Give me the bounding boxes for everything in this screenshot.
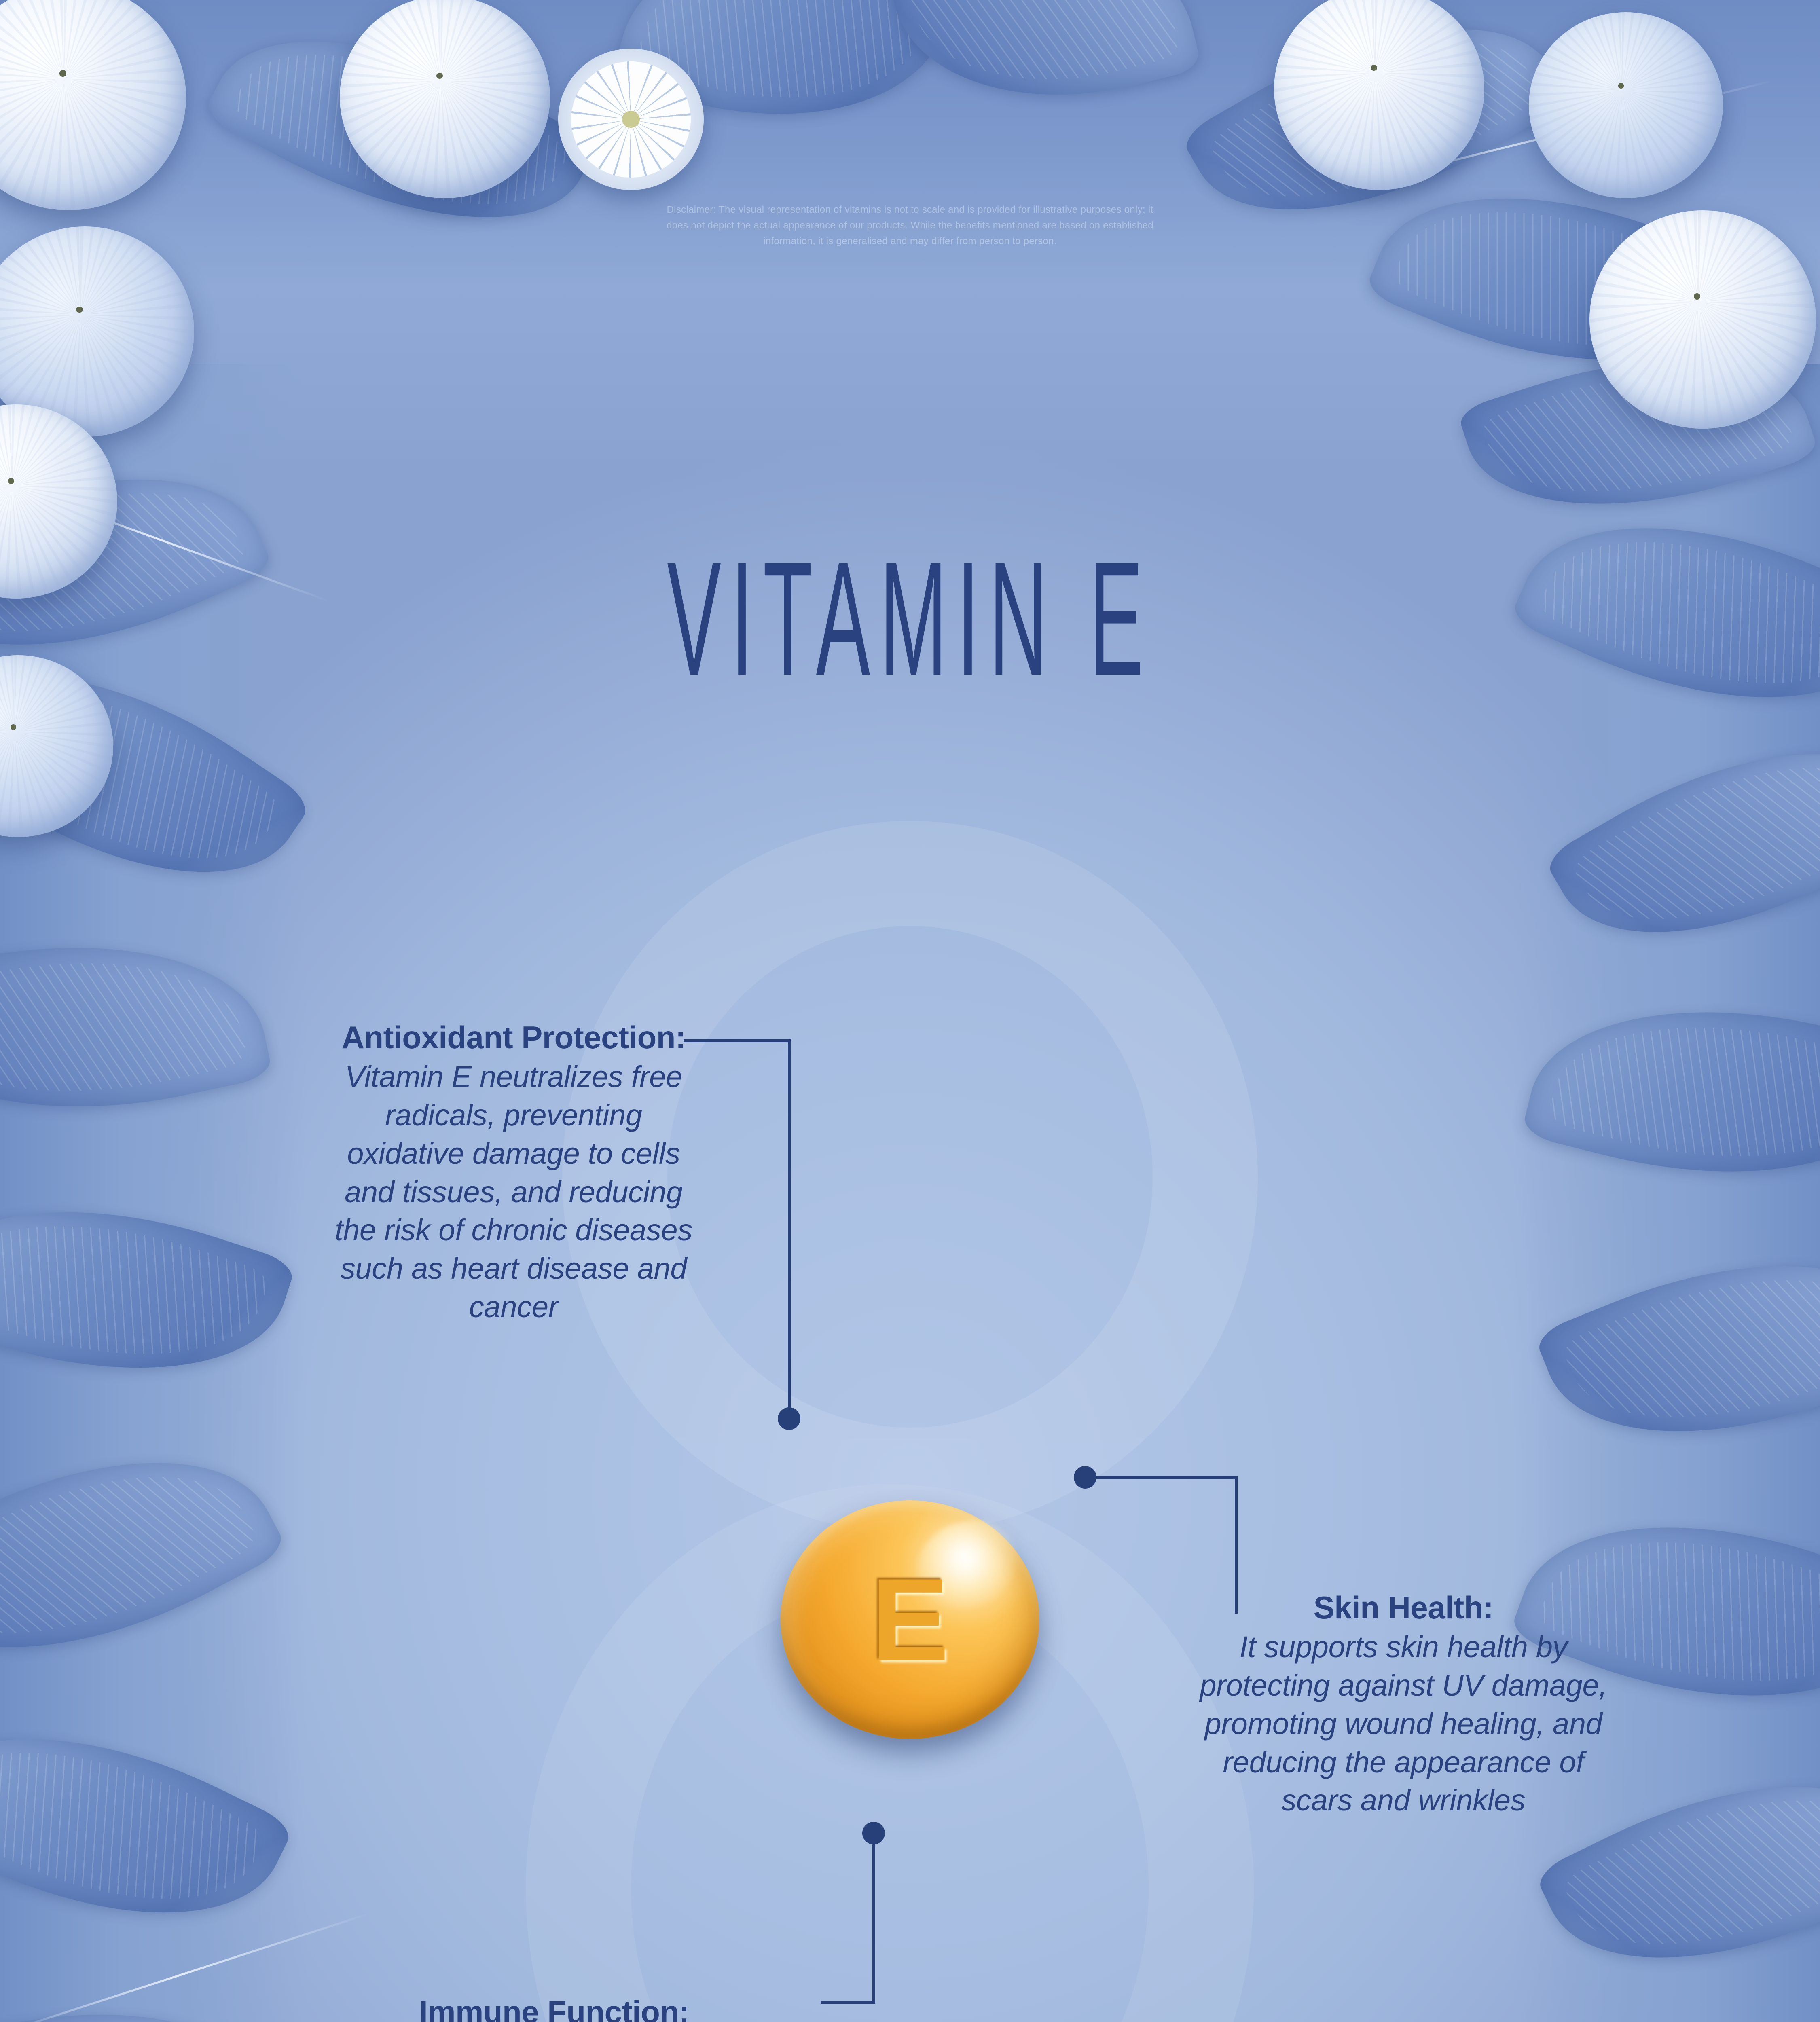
stem-icon — [1341, 80, 1773, 189]
tablet-letter-e: E — [781, 1561, 1039, 1678]
callout-heading: Skin Health: — [1185, 1589, 1622, 1626]
citrus-slice-icon — [558, 49, 704, 190]
leaf-icon — [0, 414, 274, 710]
leaf-icon — [1456, 309, 1819, 557]
connector-2-horizontal — [1094, 1476, 1238, 1479]
callout-antioxidant-protection: Antioxidant Protection: Vitamin E neutra… — [332, 1019, 696, 1326]
leaf-icon — [0, 1389, 288, 1721]
connector-1-horizontal — [684, 1039, 791, 1042]
citrus-fruit-icon — [0, 404, 117, 599]
leaf-icon — [202, 0, 599, 286]
connector-3-vertical — [872, 1842, 875, 2004]
callout-skin-health: Skin Health: It supports skin health by … — [1185, 1589, 1622, 1820]
citrus-fruit-icon — [1589, 210, 1816, 429]
citrus-fruit-icon — [340, 0, 550, 198]
leaf-icon — [1509, 461, 1820, 765]
top-disclaimer: Disclaimer: The visual representation of… — [661, 202, 1159, 250]
vitamin-e-infographic-poster: Disclaimer: The visual representation of… — [0, 0, 1820, 2022]
connector-1-vertical — [788, 1039, 791, 1419]
left-decor-band — [0, 364, 307, 2022]
callout-heading: Immune Function: — [324, 1994, 785, 2022]
leaf-icon — [1521, 962, 1820, 1223]
citrus-fruit-icon — [0, 655, 113, 837]
tablet-body: E — [781, 1500, 1039, 1739]
leaf-icon — [0, 1155, 297, 1425]
leaf-icon — [0, 1959, 276, 2022]
citrus-fruit-icon — [0, 226, 194, 437]
leaf-icon — [1503, 1999, 1820, 2022]
stem-icon — [0, 1912, 371, 2022]
leaf-icon — [1533, 1201, 1820, 1496]
page-title: VITAMIN E — [455, 538, 1365, 700]
callout-body: It supports skin health by protecting ag… — [1185, 1628, 1622, 1820]
leaf-icon — [1179, 0, 1570, 280]
callout-immune-function: Immune Function: Vitamin E enhances immu… — [324, 1994, 785, 2022]
connector-1-node — [778, 1407, 800, 1430]
citrus-fruit-icon — [0, 0, 186, 210]
background-s-watermark — [526, 821, 1294, 2022]
stem-icon — [0, 476, 329, 602]
connector-2-node — [1074, 1466, 1096, 1489]
leaf-icon — [1364, 135, 1750, 423]
connector-3-node — [862, 1822, 885, 1844]
leaf-icon — [611, 0, 959, 164]
leaf-icon — [0, 902, 273, 1152]
vitamin-e-tablet: E — [781, 1500, 1039, 1739]
citrus-fruit-icon — [1529, 12, 1723, 198]
leaf-icon — [1543, 684, 1820, 1002]
citrus-fruit-icon — [1274, 0, 1484, 190]
callout-body: Vitamin E neutralizes free radicals, pre… — [332, 1058, 696, 1326]
callout-heading: Antioxidant Protection: — [332, 1019, 696, 1055]
leaf-icon — [0, 1670, 295, 1982]
leaf-icon — [885, 0, 1202, 137]
connector-3-horizontal — [821, 2001, 875, 2004]
leaf-icon — [0, 603, 313, 946]
